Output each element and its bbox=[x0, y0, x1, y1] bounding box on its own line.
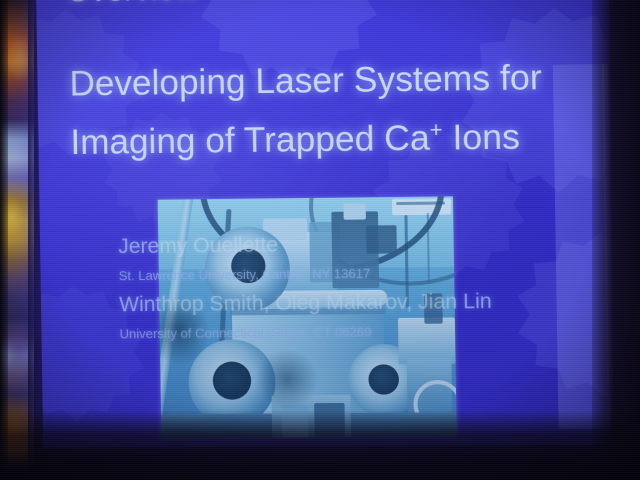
left-dark-edge bbox=[0, 0, 8, 480]
slide-title-line-2-text: Imaging of Trapped Ca bbox=[70, 119, 430, 163]
slide-title-line-2: Imaging of Trapped Ca+ Ions bbox=[70, 103, 608, 169]
slide-title-superscript-plus: + bbox=[429, 117, 442, 142]
bottom-dark-area bbox=[0, 410, 640, 480]
right-dark-wall bbox=[592, 0, 640, 480]
projected-slide-photo: Overview Developing Laser Systems for Im… bbox=[0, 0, 640, 480]
presentation-slide: Overview Developing Laser Systems for Im… bbox=[36, 0, 616, 448]
apparatus-photo: Jeremy Ouellette St. Lawrence University… bbox=[158, 196, 457, 438]
slide-title-line-1: Developing Laser Systems for bbox=[69, 58, 542, 104]
slide-title-line-2-tail: Ions bbox=[442, 117, 520, 157]
slide-title: Developing Laser Systems for Imaging of … bbox=[69, 52, 607, 168]
